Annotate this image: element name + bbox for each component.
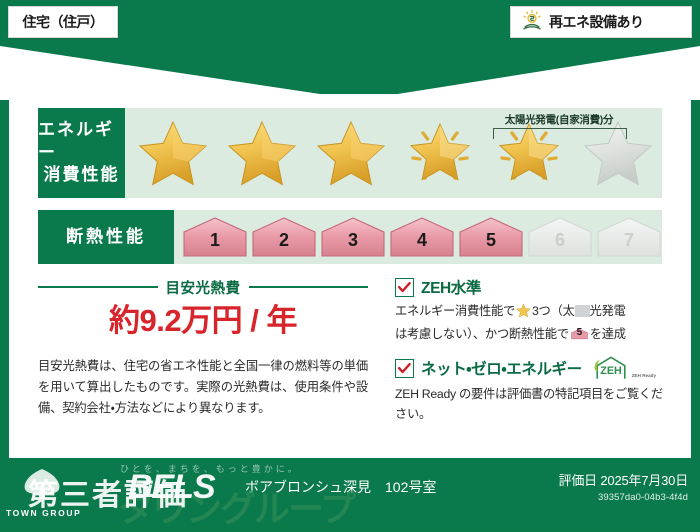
renewable-badge-label: 再エネ設備あり (549, 12, 644, 32)
evaluation-id: 39357da0-04b3-4f4d (559, 492, 688, 503)
energy-label-line2: 消費性能 (44, 164, 120, 187)
insulation-level-4: 4 (389, 216, 455, 258)
star-1 (129, 114, 217, 192)
insulation-level-1: 1 (182, 216, 248, 258)
zeh-std-text-2: 光発電 (590, 304, 626, 318)
insulation-performance-label: 断熱性能 (38, 210, 174, 264)
insulation-performance-row: 断熱性能 (38, 210, 662, 264)
insulation-level-7-value: 7 (624, 231, 634, 258)
energy-stars-panel: 太陽光発電(自家消費)分 (125, 108, 662, 198)
energy-cost-heading: 目安光熱費 (166, 277, 241, 298)
insulation-level-group: 1 2 3 (182, 216, 662, 258)
star-4-solar (396, 114, 484, 192)
solar-sun-icon (521, 9, 543, 36)
page-title: 省エネ性能ラベル (0, 56, 700, 87)
star-3 (307, 114, 395, 192)
checkmark-icon-zeh-netzero (395, 359, 414, 378)
energy-label-line1: エネルギー (38, 119, 125, 165)
energy-label-document: 建築物省エネ法に基づく 省エネ性能ラベル 住宅（住戸） 再エネ設備あり (0, 0, 700, 523)
evaluation-info: 評価日 2025年7月30日 39357da0-04b3-4f4d (559, 470, 688, 503)
insulation-level-1-value: 1 (210, 231, 220, 258)
insulation-level-2: 2 (251, 216, 317, 258)
building-name: ボアブロンシュ深見 102号室 (245, 477, 436, 497)
star-6-empty (574, 114, 662, 192)
zeh-netzero-description: ZEH Ready の要件は評価書の特記項目をご覧ください。 (395, 385, 673, 424)
renewable-energy-badge: 再エネ設備あり (510, 6, 692, 38)
star-2 (218, 114, 306, 192)
heading-rule-right (249, 286, 369, 288)
energy-performance-label: エネルギー 消費性能 (38, 108, 125, 198)
inline-badge-value: 5 (571, 326, 588, 342)
label-body-card: エネルギー 消費性能 (9, 94, 691, 458)
energy-performance-row: エネルギー 消費性能 (38, 108, 662, 198)
energy-cost-value: 約9.2万円 / 年 (38, 304, 368, 338)
zeh-section: ZEH水準 エネルギー消費性能で3つ（太光発電は考慮しない）、かつ断熱性能で5を… (395, 276, 673, 436)
redacted-text-block (575, 305, 590, 317)
insulation-level-3: 3 (320, 216, 386, 258)
insulation-level-6-value: 6 (555, 231, 565, 258)
zeh-std-text-1: エネルギー消費性能で (395, 304, 515, 318)
insulation-level-5-value: 5 (486, 231, 496, 258)
inline-insulation-level-badge: 5 (571, 326, 588, 342)
insulation-level-5: 5 (458, 216, 524, 258)
zeh-standard-title: ZEH水準 (421, 276, 481, 298)
zeh-netzero-block: ネット・ゼロ・エネルギー ZEH ZEH Ready ZEH Ready の要件… (395, 355, 673, 424)
heading-rule-left (38, 286, 158, 288)
svg-text:ZEH: ZEH (600, 365, 621, 377)
insulation-label-text: 断熱性能 (66, 226, 146, 249)
label-title-group: 建築物省エネ法に基づく 省エネ性能ラベル (0, 40, 700, 87)
zeh-netzero-title: ネット・ゼロ・エネルギー (421, 357, 582, 379)
zeh-standard-title-row: ZEH水準 (395, 276, 673, 298)
zeh-standard-block: ZEH水準 エネルギー消費性能で3つ（太光発電は考慮しない）、かつ断熱性能で5を… (395, 276, 673, 344)
checkmark-icon-zeh-standard (395, 278, 414, 297)
title-subtitle: 建築物省エネ法に基づく (0, 40, 700, 55)
zeh-std-star-count: 3つ（太 (532, 304, 575, 318)
insulation-level-2-value: 2 (279, 231, 289, 258)
zeh-logo-icon: ZEH ZEH Ready (591, 355, 656, 381)
zeh-std-text-4: を達成 (590, 327, 626, 341)
energy-cost-note: 目安光熱費は、住宅の省エネ性能と全国一律の燃料等の単価を用いて算出したものです。… (38, 356, 368, 419)
star-5-solar (485, 114, 573, 192)
energy-cost-section: 目安光熱費 約9.2万円 / 年 目安光熱費は、住宅の省エネ性能と全国一律の燃料… (38, 276, 368, 420)
insulation-level-7: 7 (596, 216, 662, 258)
insulation-levels-panel: 1 2 3 (174, 210, 662, 264)
zeh-std-text-3: は考慮しない）、かつ断熱性能で (395, 327, 569, 341)
insulation-level-3-value: 3 (348, 231, 358, 258)
insulation-level-4-value: 4 (417, 231, 427, 258)
zeh-netzero-title-row: ネット・ゼロ・エネルギー ZEH ZEH Ready (395, 355, 673, 381)
star-rating-group (129, 114, 662, 192)
zeh-standard-description: エネルギー消費性能で3つ（太光発電は考慮しない）、かつ断熱性能で5を達成 (395, 302, 673, 344)
evaluation-date: 評価日 2025年7月30日 (559, 470, 688, 489)
energy-cost-heading-row: 目安光熱費 (38, 276, 368, 298)
insulation-level-6: 6 (527, 216, 593, 258)
inline-star-icon (516, 303, 531, 325)
document-type-badge: 住宅（住戸） (8, 6, 118, 38)
zeh-logo-subtext: ZEH Ready (632, 374, 656, 382)
